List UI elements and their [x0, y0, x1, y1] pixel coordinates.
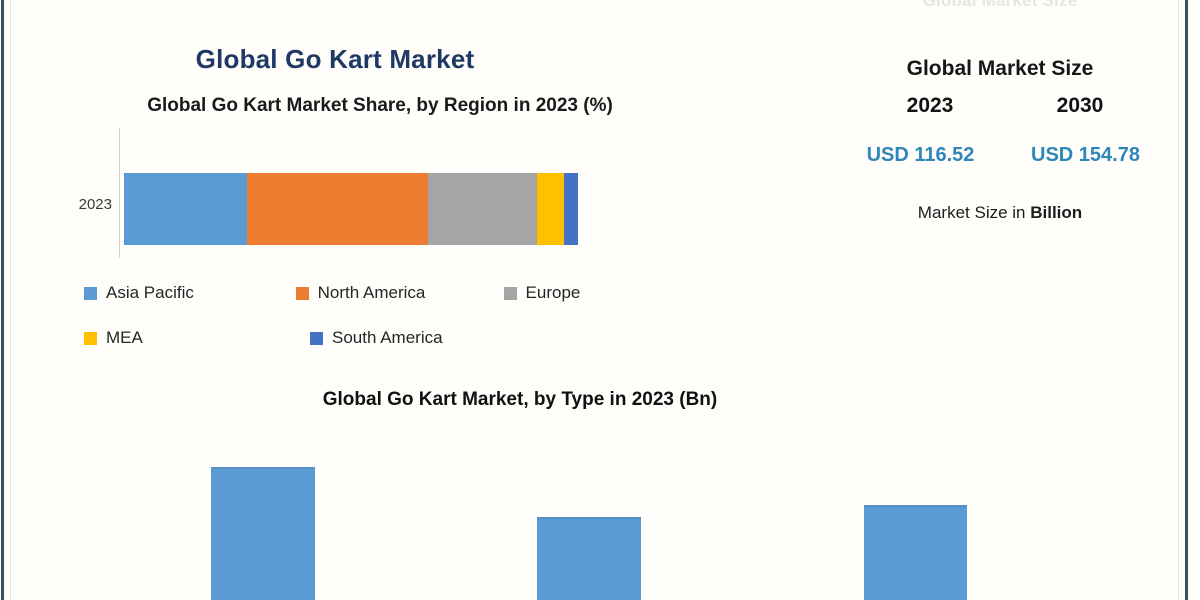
type-bar [211, 467, 315, 600]
market-size-year-2023: 2023 [855, 94, 1005, 118]
legend-label: Asia Pacific [106, 283, 194, 303]
legend-label: MEA [106, 328, 143, 348]
market-size-value-row: USD 116.52 USD 154.78 [838, 144, 1168, 167]
infographic-canvas: Global Market Size Global Go Kart Market… [0, 0, 1200, 600]
legend-item-europe[interactable]: Europe [504, 283, 644, 303]
stacked-bar-segment [247, 173, 428, 245]
chart-category-label: 2023 [60, 196, 112, 213]
legend-item-north-america[interactable]: North America [296, 283, 504, 303]
legend-row-2: MEA South America [84, 328, 644, 373]
legend-swatch-icon [84, 287, 97, 300]
region-share-chart: 2023 [60, 128, 620, 258]
legend-swatch-icon [504, 287, 517, 300]
market-size-value-2023: USD 116.52 [838, 144, 1003, 167]
type-chart-title: Global Go Kart Market, by Type in 2023 (… [250, 389, 790, 411]
type-bar-chart [0, 420, 1200, 600]
legend-item-mea[interactable]: MEA [84, 328, 310, 348]
legend-row-1: Asia Pacific North America Europe [84, 283, 644, 328]
stacked-bar-segment [124, 173, 247, 245]
market-size-value-2030: USD 154.78 [1003, 144, 1168, 167]
market-size-unit-prefix: Market Size in [918, 203, 1030, 222]
stacked-bar-segment [537, 173, 564, 245]
market-size-unit-note: Market Size in Billion [855, 203, 1145, 223]
legend-item-south-america[interactable]: South America [310, 328, 532, 348]
legend-swatch-icon [296, 287, 309, 300]
page-title: Global Go Kart Market [120, 44, 550, 75]
legend-label: South America [332, 328, 443, 348]
global-market-size-heading: Global Market Size [855, 57, 1145, 81]
legend-swatch-icon [84, 332, 97, 345]
stacked-bar-segment [428, 173, 537, 245]
legend-label: Europe [526, 283, 581, 303]
clipped-top-text: Global Market Size [855, 0, 1145, 11]
market-size-year-row: 2023 2030 [855, 94, 1155, 118]
legend-swatch-icon [310, 332, 323, 345]
chart-axis-line [119, 128, 120, 258]
market-size-year-2030: 2030 [1005, 94, 1155, 118]
stacked-bar [124, 173, 578, 245]
stacked-bar-segment [564, 173, 578, 245]
chart-legend: Asia Pacific North America Europe MEA So… [84, 283, 644, 373]
legend-item-asia-pacific[interactable]: Asia Pacific [84, 283, 296, 303]
type-bar [537, 517, 641, 600]
legend-label: North America [318, 283, 426, 303]
market-size-unit-emphasis: Billion [1030, 203, 1082, 222]
type-bar [864, 505, 967, 600]
region-share-chart-title: Global Go Kart Market Share, by Region i… [100, 94, 660, 118]
